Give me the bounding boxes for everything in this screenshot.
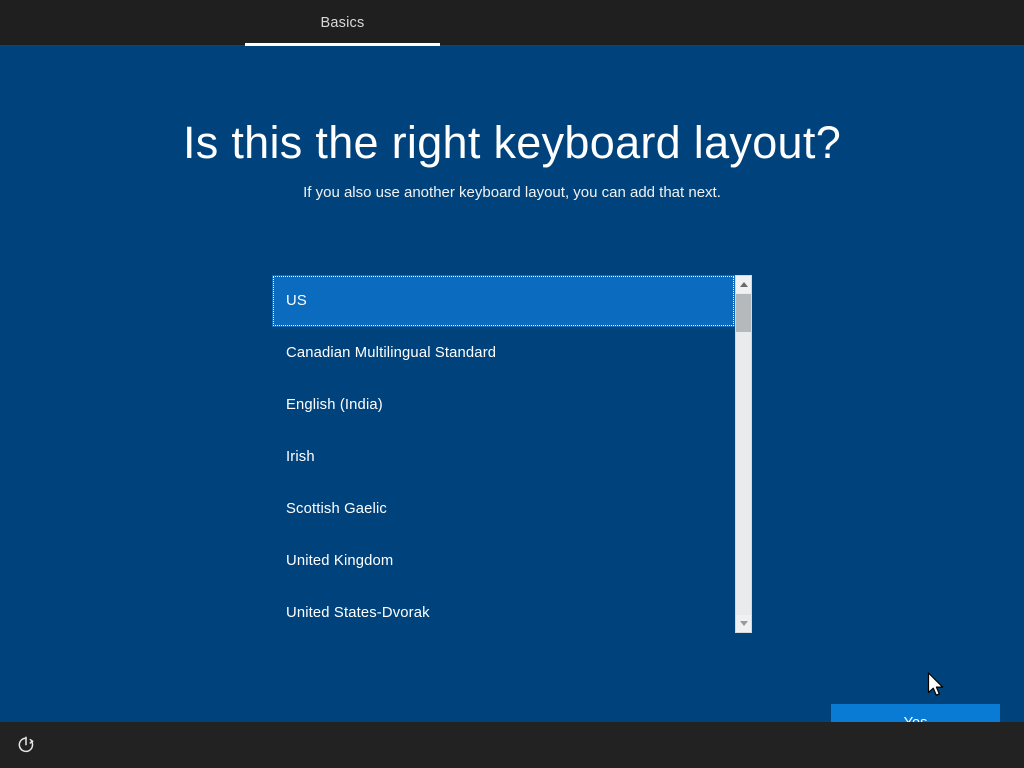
scrollbar-up-button[interactable] — [736, 276, 751, 293]
keyboard-layout-item[interactable]: United Kingdom — [272, 535, 735, 587]
keyboard-layout-item[interactable]: Irish — [272, 431, 735, 483]
keyboard-layout-item-label: English (India) — [286, 397, 383, 413]
chevron-down-icon — [740, 621, 748, 626]
page-title: Is this the right keyboard layout? — [0, 117, 1024, 169]
scrollbar-down-button[interactable] — [736, 615, 751, 632]
keyboard-layout-item[interactable]: English (India) — [272, 379, 735, 431]
chevron-up-icon — [740, 282, 748, 287]
keyboard-layout-item-label: United States-Dvorak — [286, 605, 430, 621]
keyboard-layout-item[interactable]: US — [272, 275, 735, 327]
footer-bar — [0, 722, 1024, 768]
keyboard-layout-item-label: Irish — [286, 449, 315, 465]
power-icon[interactable] — [14, 733, 38, 757]
scrollbar-thumb[interactable] — [736, 294, 751, 332]
setup-screen: Basics Is this the right keyboard layout… — [0, 0, 1024, 768]
keyboard-list-viewport: USCanadian Multilingual StandardEnglish … — [272, 275, 735, 633]
main-content: Is this the right keyboard layout? If yo… — [0, 47, 1024, 722]
keyboard-layout-item-label: Canadian Multilingual Standard — [286, 345, 496, 361]
header-bar: Basics — [0, 0, 1024, 46]
page-subtitle: If you also use another keyboard layout,… — [0, 184, 1024, 201]
keyboard-layout-item-label: Scottish Gaelic — [286, 501, 387, 517]
tab-active-indicator — [245, 43, 440, 46]
tab-basics[interactable]: Basics — [245, 0, 440, 46]
tab-basics-label: Basics — [321, 15, 365, 31]
keyboard-layout-item[interactable]: Canadian Multilingual Standard — [272, 327, 735, 379]
keyboard-layout-item-label: United Kingdom — [286, 553, 393, 569]
keyboard-list-scrollbar[interactable] — [735, 275, 752, 633]
keyboard-layout-item[interactable]: Scottish Gaelic — [272, 483, 735, 535]
keyboard-layout-item-label: US — [286, 293, 307, 309]
keyboard-layout-list: USCanadian Multilingual StandardEnglish … — [272, 275, 752, 633]
keyboard-layout-item[interactable]: United States-Dvorak — [272, 587, 735, 633]
